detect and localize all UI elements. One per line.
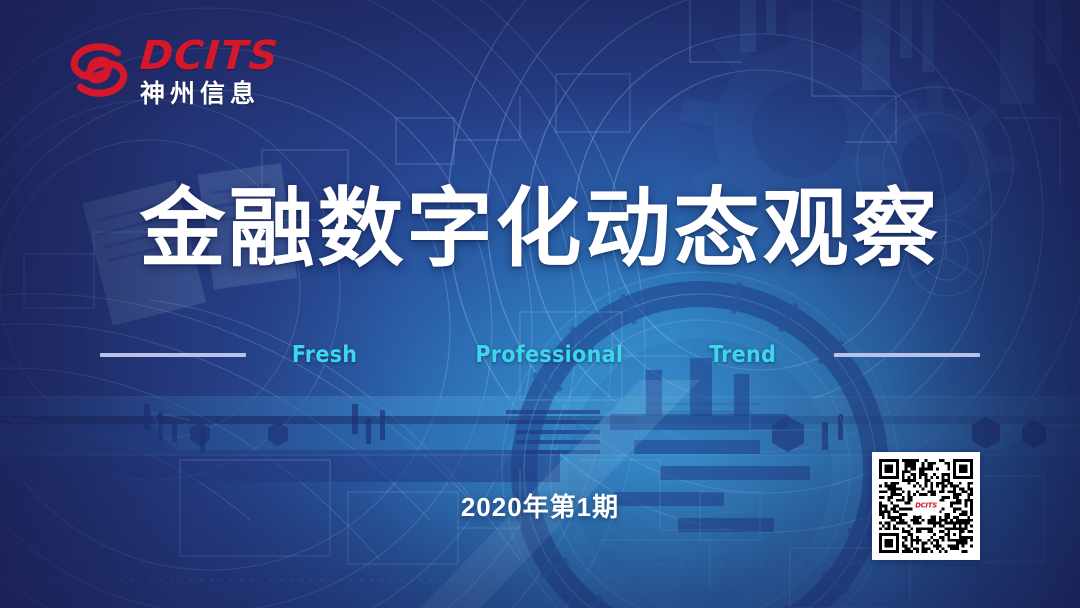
tagline-rule-left [100,353,246,357]
tagline-word-professional: Professional [475,342,623,368]
tagline-word-fresh: Fresh [292,342,357,368]
tagline-word-trend: Trend [709,342,776,368]
qr-center-logo-text: DCITS [915,503,937,510]
qr-code-inner: DCITS [879,459,973,553]
dcits-logo-text: DCITS 神州信息 [140,34,279,107]
tagline-row: Fresh Professional Trend [0,340,1080,370]
brand-name-cn: 神州信息 [140,82,279,107]
cover-slide: DCITS 神州信息 金融数字化动态观察 Fresh Professional … [0,0,1080,608]
dcits-swirl-icon [66,35,132,105]
page-title: 金融数字化动态观察 [0,186,1080,272]
dcits-logo: DCITS 神州信息 [66,28,276,112]
brand-name-en: DCITS [139,36,280,76]
tagline-rule-right [834,353,980,357]
qr-code[interactable]: DCITS [872,452,980,560]
qr-center-logo: DCITS [913,497,940,516]
